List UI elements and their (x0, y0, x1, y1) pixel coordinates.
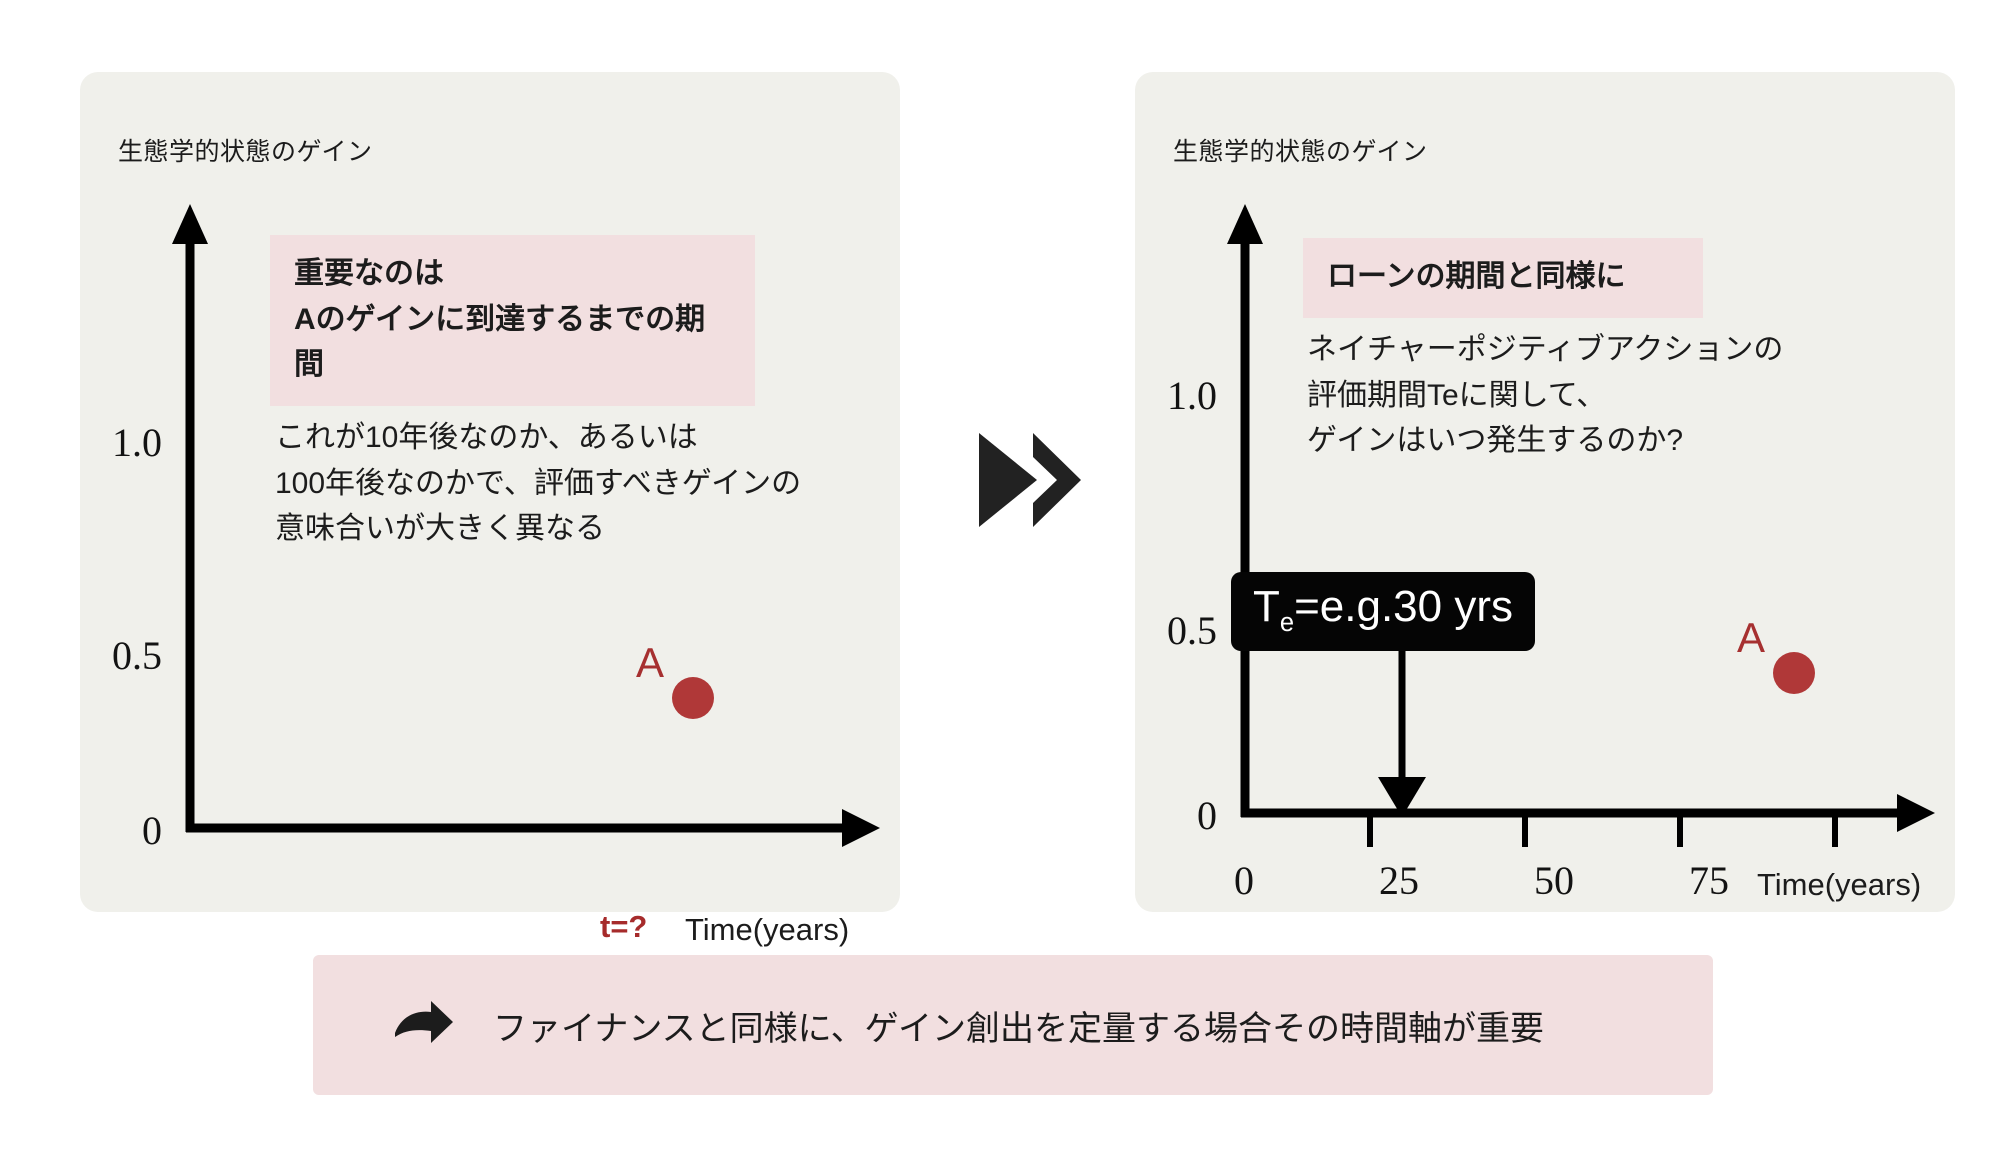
te-badge-prefix: T (1253, 582, 1280, 631)
right-body-text: ネイチャーポジティブアクションの 評価期間Teに関して、 ゲインはいつ発生するの… (1307, 327, 1927, 464)
right-point-a-dot (1773, 652, 1815, 694)
right-xtick-0: 0 (1204, 857, 1284, 904)
right-axes (1135, 72, 1955, 912)
curved-arrow-right-icon (393, 999, 455, 1051)
left-point-a-label: A (636, 642, 664, 684)
te-period-badge: Te=e.g.30 yrs (1231, 572, 1535, 651)
summary-banner: ファイナンスと同様に、ゲイン創出を定量する場合その時間軸が重要 (313, 955, 1713, 1095)
left-ytick-3: 0 (72, 807, 162, 854)
right-chart-panel: 生態学的状態のゲイン 1.0 0.5 0 ローンの期間と同様に ネイチャーポジテ… (1135, 72, 1955, 912)
right-x-axis-label: Time(years) (1757, 867, 1921, 903)
left-point-a-dot (672, 677, 714, 719)
right-xtick-50: 50 (1514, 857, 1594, 904)
left-ytick-1: 1.0 (72, 419, 162, 466)
left-x-axis-label: Time(years) (685, 912, 849, 948)
left-chart-panel: 生態学的状態のゲイン 1.0 0.5 0 重要なのは Aのゲインに到達するまでの… (80, 72, 900, 912)
right-xtick-25: 25 (1359, 857, 1439, 904)
right-ytick-1: 1.0 (1127, 372, 1217, 419)
right-callout-highlight: ローンの期間と同様に (1303, 238, 1703, 318)
right-point-a-label: A (1737, 617, 1765, 659)
right-xtick-75: 75 (1669, 857, 1749, 904)
te-badge-suffix: =e.g.30 yrs (1294, 582, 1513, 631)
double-chevron-right-icon (975, 425, 1085, 535)
left-ytick-2: 0.5 (72, 632, 162, 679)
left-callout-highlight: 重要なのは Aのゲインに到達するまでの期間 (270, 235, 755, 406)
left-t-unknown-label: t=? (600, 909, 647, 945)
te-badge-subscript: e (1280, 609, 1294, 637)
summary-banner-text: ファイナンスと同様に、ゲイン創出を定量する場合その時間軸が重要 (493, 955, 1544, 1095)
right-ytick-2: 0.5 (1127, 607, 1217, 654)
right-ytick-3: 0 (1127, 792, 1217, 839)
left-body-text: これが10年後なのか、あるいは 100年後なのかで、評価すべきゲインの 意味合い… (275, 415, 895, 552)
